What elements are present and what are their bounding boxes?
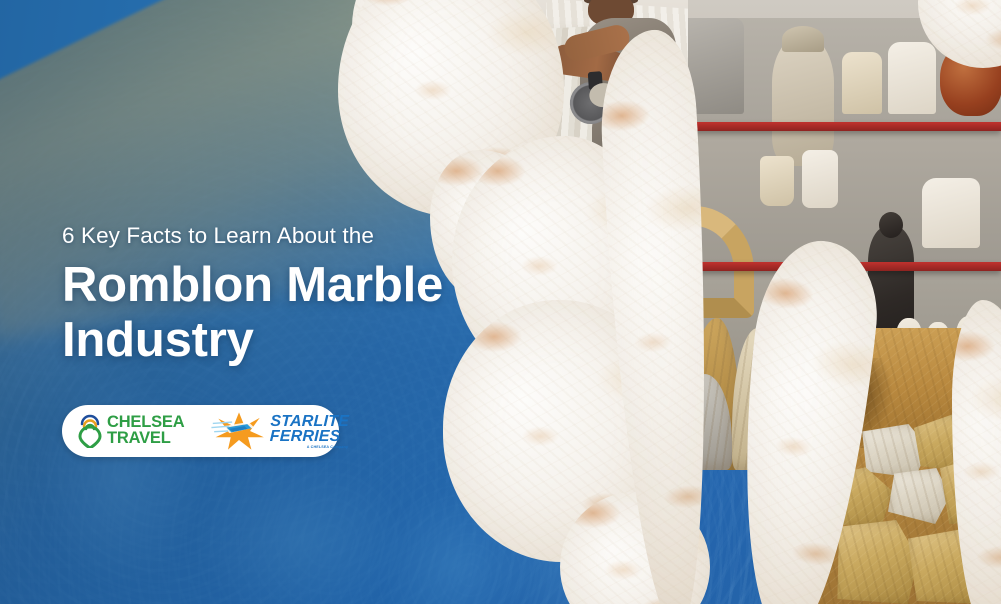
chelsea-travel-logo[interactable]: CHELSEA TRAVEL [78,414,184,448]
marble-industry-banner: 6 Key Facts to Learn About the Romblon M… [0,0,1001,604]
page-title-line-2: Industry [62,313,532,367]
chelsea-word-line-2: TRAVEL [107,431,184,447]
marble-shape-top-right [918,0,1001,68]
marble-shape-right-edge [952,300,1001,604]
page-title-line-1: Romblon Marble [62,258,532,312]
starlite-ferries-wordmark: STARLITE FERRIES A CHELSEA Company [270,414,350,449]
starlite-tagline: A CHELSEA Company [270,445,349,448]
brand-logo-lockup[interactable]: CHELSEA TRAVEL [62,405,339,457]
starlite-word-line-1: STARLITE [271,414,350,429]
eyebrow-text: 6 Key Facts to Learn About the [62,222,532,250]
marble-divider-arc-right [723,235,884,604]
chelsea-travel-pin-icon [78,414,102,448]
page-title: Romblon Marble Industry [62,258,532,367]
headline-block: 6 Key Facts to Learn About the Romblon M… [62,222,532,367]
chelsea-travel-wordmark: CHELSEA TRAVEL [107,415,184,447]
starlite-word-line-2: FERRIES [270,429,349,444]
starlite-star-burst-icon [211,411,267,451]
starlite-ferries-logo[interactable]: STARLITE FERRIES A CHELSEA Company [211,411,349,451]
